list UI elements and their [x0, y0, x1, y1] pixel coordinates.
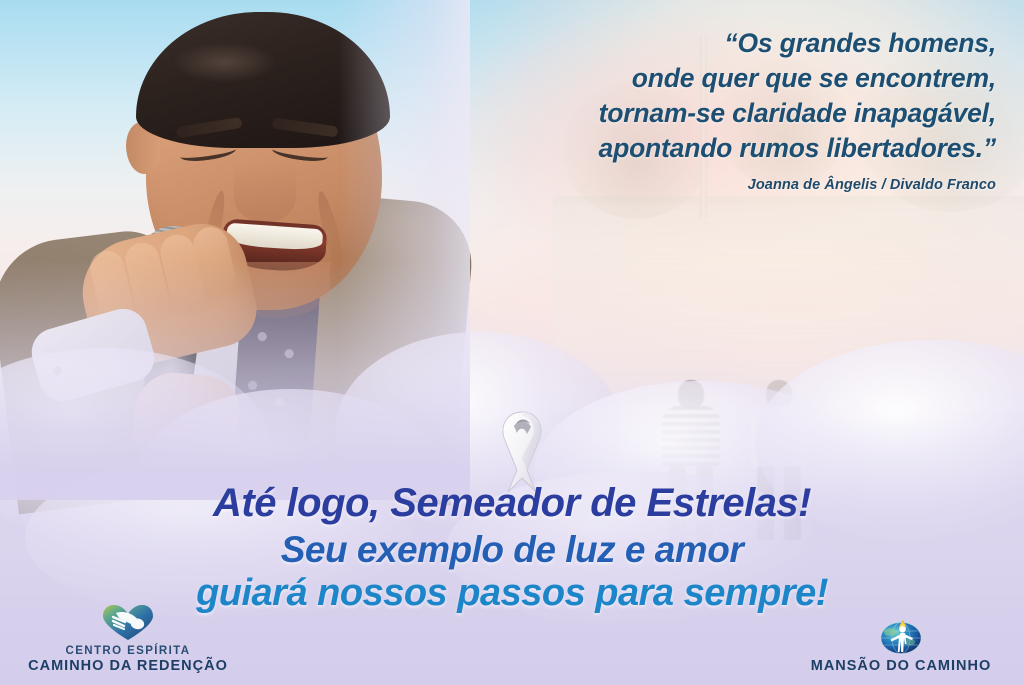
- nose: [234, 164, 296, 222]
- logo-right-line-1: MANSÃO DO CAMINHO: [786, 658, 1016, 675]
- heart-hands-icon: [99, 603, 157, 643]
- logo-mansao-do-caminho: MANSÃO DO CAMINHO: [786, 614, 1016, 675]
- figure-head: [678, 380, 704, 409]
- figure-torso: [750, 406, 808, 468]
- logo-left-line-2: CAMINHO DA REDENÇÃO: [8, 658, 248, 675]
- plaza-ground: [553, 204, 1024, 411]
- memorial-headline: Até logo, Semeador de Estrelas! Seu exem…: [0, 483, 1024, 612]
- quote-line-3: tornam-se claridade inapagável,: [440, 96, 996, 131]
- memorial-quote: “Os grandes homens, onde quer que se enc…: [440, 26, 996, 193]
- figure-torso: [662, 406, 720, 468]
- quote-attribution: Joanna de Ângelis / Divaldo Franco: [440, 177, 996, 193]
- logo-left-line-1: CENTRO ESPÍRITA: [8, 645, 248, 658]
- globe-figure-flame-icon: [877, 614, 925, 656]
- quote-line-4: apontando rumos libertadores.”: [440, 131, 996, 166]
- memorial-poster: “Os grandes homens, onde quer que se enc…: [0, 0, 1024, 685]
- portrait-of-speaker: [0, 0, 470, 500]
- cuff-button: [52, 365, 63, 376]
- figure-head: [766, 380, 792, 409]
- hair: [136, 12, 390, 148]
- quote-line-2: onde quer que se encontrem,: [440, 61, 996, 96]
- headline-line-1: Até logo, Semeador de Estrelas!: [0, 483, 1024, 523]
- quote-line-1: “Os grandes homens,: [440, 26, 996, 61]
- microphone-holding-hand: [129, 369, 242, 475]
- logo-centro-espirita: CENTRO ESPÍRITA CAMINHO DA REDENÇÃO: [8, 603, 248, 675]
- headline-line-2: Seu exemplo de luz e amor: [0, 531, 1024, 568]
